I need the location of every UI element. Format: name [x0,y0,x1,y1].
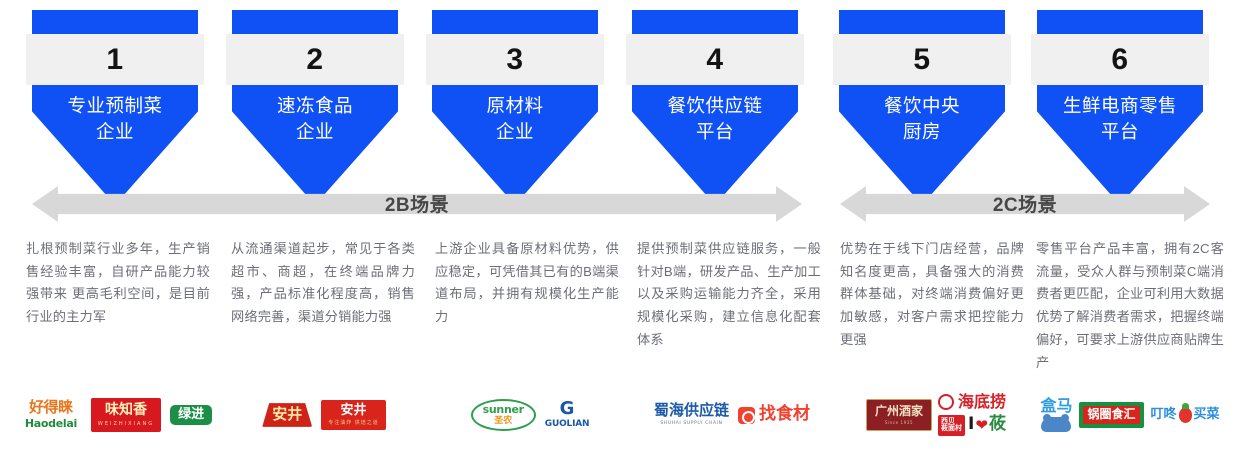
logo-stack-5: 海底捞 西贝莜面村 I❤莜 [938,394,1006,436]
hema-logo-cn: 盒马 [1040,398,1072,415]
step-number-4: 4 [706,45,723,75]
lvjin-logo-cn: 绿进 [178,408,204,423]
sunner-logo: sunner 圣农 [471,399,536,431]
anjing-logo-cn: 安井 [272,407,302,423]
step-number-1: 1 [106,45,123,75]
dingdong-logo-cn2: 买菜 [1194,408,1220,422]
description-1: 扎根预制菜行业多年，生产销售经验丰富，自研产品能力较强带来 更高毛利空间，是目前… [26,238,210,329]
description-5: 优势在于线下门店经营，品牌知名度更高，具备强大的消费群体基础，对终端消费偏好更加… [840,238,1024,352]
xibei-logo-slogan: I❤莜 [968,416,1006,434]
zhaoshicai-logo-cn: 找食材 [759,406,810,424]
pentagon-title-4: 餐饮供应链平台 [632,93,798,146]
guolian-logo-mark: G [560,400,575,417]
pentagon-card-5[interactable]: 餐饮中央厨房 5 [833,0,1011,212]
pentagon-title-3: 原材料企业 [432,93,598,146]
step-number-5: 5 [913,45,930,75]
dingdong-logo-cn: 叮咚 [1151,408,1177,422]
radish-icon [1179,408,1192,423]
zhaoshicai-logo-mark-icon [738,407,755,424]
number-band-4: 4 [626,34,804,85]
pentagon-card-2[interactable]: 速冻食品企业 2 [226,0,404,212]
pentagon-card-4[interactable]: 餐饮供应链平台 4 [626,0,804,212]
logo-strip-6: 盒马 锅圈食汇 叮咚 买菜 [1030,382,1230,448]
sunner-logo-en: sunner [483,404,524,416]
logo-strip-2: 安井 安井 专注油炸 烘焙之道 [224,382,424,448]
stage-column-6: 生鲜电商零售平台 6 [1031,0,1209,212]
haidilao-logo-cn: 海底捞 [958,394,1006,411]
anjing-logo: 安井 [262,403,312,427]
weizhixiang-logo-en: WEIZHIXIANG [98,422,154,427]
step-number-6: 6 [1111,45,1128,75]
haidilao-logo: 海底捞 [938,394,1006,411]
guolian-logo: G GUOLIAN [545,400,590,430]
shuhai-logo-cn: 蜀海供应链 [654,403,729,419]
pentagon-title-5: 餐饮中央厨房 [839,93,1005,146]
stage-column-3: 原材料企业 3 [426,0,604,212]
stage-column-1: 专业预制菜企业 1 [26,0,204,212]
weizhixiang-logo: 味知香 WEIZHIXIANG [91,398,161,432]
description-3: 上游企业具备原材料优势，供应稳定，可凭借其已有的B端渠道布局，并拥有规模化生产能… [435,238,619,329]
number-band-6: 6 [1031,34,1209,85]
logo-strip-1: 好得睐 Haodelai 味知香 WEIZHIXIANG 绿进 [16,382,216,448]
description-6: 零售平台产品丰富，拥有2C客流量，受众人群与预制菜C端消费者更匹配，企业可利用大… [1036,238,1224,374]
qianweiyangchu-logo-cn: 安井 [340,404,366,418]
number-band-5: 5 [833,34,1011,85]
haodelai-logo-en: Haodelai [25,418,77,430]
logo-strip-5: 广州酒家 Since 1935 海底捞 西贝莜面村 I❤莜 [836,382,1036,448]
logo-strip-4: 蜀海供应链 SHUHAI SUPPLY CHAIN 找食材 [632,382,832,448]
guoquan-logo-cn: 锅圈食汇 [1087,408,1135,422]
guangzhou-jiujia-logo-cn: 广州酒家 [875,405,923,418]
guoquan-logo: 锅圈食汇 [1079,402,1143,428]
dingdong-logo: 叮咚 买菜 [1151,408,1220,423]
haodelai-logo: 好得睐 Haodelai [20,400,82,429]
heart-icon: ❤ [975,418,988,434]
pentagon-title-2: 速冻食品企业 [232,93,398,146]
number-band-3: 3 [426,34,604,85]
pentagon-card-1[interactable]: 专业预制菜企业 1 [26,0,204,212]
weizhixiang-logo-cn: 味知香 [105,403,147,418]
guangzhou-jiujia-logo-en: Since 1935 [885,421,913,425]
shuhai-logo: 蜀海供应链 SHUHAI SUPPLY CHAIN [654,403,729,426]
sunner-logo-cn: 圣农 [494,417,512,426]
stage-column-4: 餐饮供应链平台 4 [626,0,804,212]
pentagon-card-6[interactable]: 生鲜电商零售平台 6 [1031,0,1209,212]
infographic-canvas: 专业预制菜企业 1 速冻食品企业 2 原材料企业 3 餐饮供应链平台 [0,0,1235,452]
xibei-logo: 西贝莜面村 I❤莜 [938,415,1006,436]
description-4: 提供预制菜供应链服务，一般针对B端，研发产品、生产加工以及采购运输能力齐全，采用… [637,238,821,352]
shuhai-logo-en: SHUHAI SUPPLY CHAIN [660,422,722,427]
lvjin-logo: 绿进 [170,405,212,426]
haodelai-logo-cn: 好得睐 [29,400,73,416]
number-band-1: 1 [26,34,204,85]
step-number-3: 3 [506,45,523,75]
hema-logo: 盒马 [1040,398,1072,432]
pentagon-title-1: 专业预制菜企业 [32,93,198,146]
haidilao-logo-mark-icon [938,394,954,410]
description-2: 从流通渠道起步，常见于各类超市、商超，在终端品牌力强，产品标准化程度高，销售网络… [231,238,415,329]
pentagon-title-6: 生鲜电商零售平台 [1037,93,1203,146]
stage-column-2: 速冻食品企业 2 [226,0,404,212]
xibei-logo-cn: 西贝莜面村 [938,415,965,436]
number-band-2: 2 [226,34,404,85]
guangzhou-jiujia-logo: 广州酒家 Since 1935 [866,399,932,431]
zhaoshicai-logo: 找食材 [738,406,810,424]
guolian-logo-en: GUOLIAN [545,420,590,429]
logo-strip-3: sunner 圣农 G GUOLIAN [430,382,630,448]
step-number-2: 2 [306,45,323,75]
qianweiyangchu-logo: 安井 专注油炸 烘焙之道 [321,400,386,430]
pentagon-card-3[interactable]: 原材料企业 3 [426,0,604,212]
stage-column-5: 餐饮中央厨房 5 [833,0,1011,212]
qianweiyangchu-logo-tag: 专注油炸 烘焙之道 [328,421,379,426]
hippo-icon [1041,417,1071,432]
